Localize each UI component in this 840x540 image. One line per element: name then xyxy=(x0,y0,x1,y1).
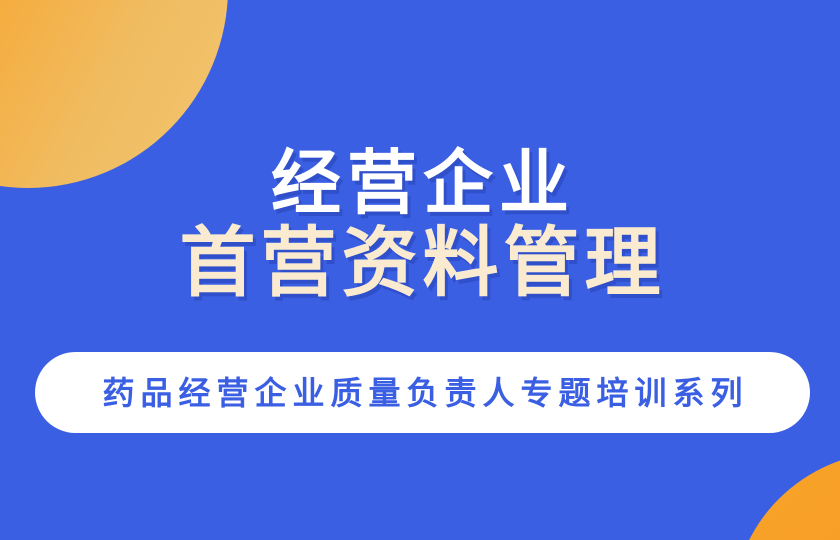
headline-line-1: 经营企业 xyxy=(0,146,840,220)
subtitle-pill: 药品经营企业质量负责人专题培训系列 xyxy=(35,352,810,433)
poster-banner: 经营企业 首营资料管理 药品经营企业质量负责人专题培训系列 xyxy=(0,0,840,540)
headline-block: 经营企业 首营资料管理 xyxy=(0,146,840,305)
bottom-right-orange-circle-decoration xyxy=(732,452,840,540)
subtitle-text: 药品经营企业质量负责人专题培训系列 xyxy=(96,377,748,409)
headline-line-2: 首营资料管理 xyxy=(0,224,840,305)
